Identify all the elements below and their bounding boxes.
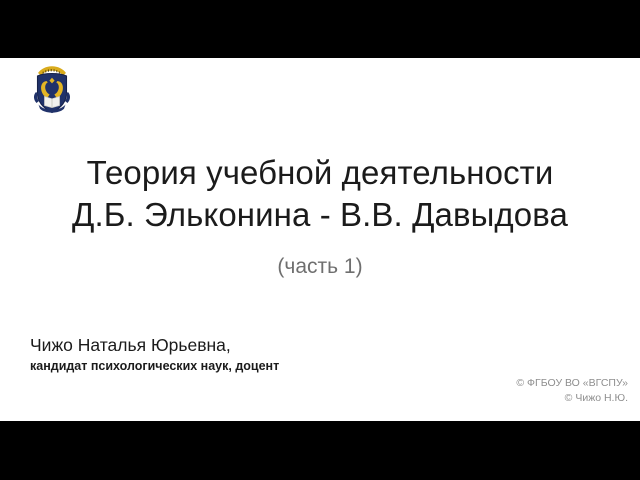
author-credentials: кандидат психологических наук, доцент	[30, 358, 430, 375]
copyright-block: © ФГБОУ ВО «ВГСПУ» © Чижо Н.Ю.	[516, 376, 628, 406]
video-frame: Теория учебной деятельности Д.Б. Элькони…	[0, 0, 640, 480]
university-crest-logo	[27, 60, 77, 120]
author-name: Чижо Наталья Юрьевна,	[30, 334, 430, 357]
slide-subtitle: (часть 1)	[0, 254, 640, 280]
author-block: Чижо Наталья Юрьевна, кандидат психологи…	[30, 334, 430, 375]
title-line-1: Теория учебной деятельности	[0, 152, 640, 194]
letterbox-bar-top	[0, 0, 640, 58]
letterbox-bar-bottom	[0, 421, 640, 480]
copyright-line-author: © Чижо Н.Ю.	[516, 391, 628, 406]
slide-title: Теория учебной деятельности Д.Б. Элькони…	[0, 152, 640, 236]
presentation-slide: Теория учебной деятельности Д.Б. Элькони…	[0, 58, 640, 421]
title-line-2: Д.Б. Эльконина - В.В. Давыдова	[0, 194, 640, 236]
copyright-line-institution: © ФГБОУ ВО «ВГСПУ»	[516, 376, 628, 391]
